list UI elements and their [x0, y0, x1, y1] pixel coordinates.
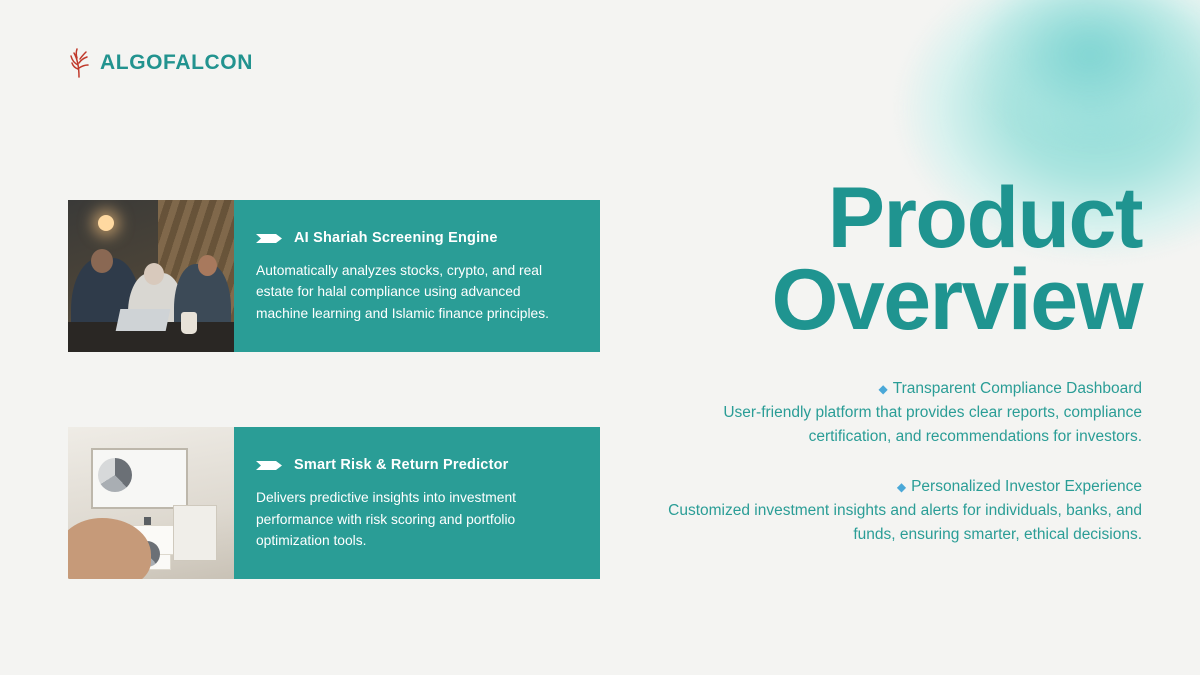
flag-bullet-icon: [256, 232, 282, 245]
feature-card: AI Shariah Screening Engine Automaticall…: [68, 200, 600, 352]
brand-name: ALGOFALCON: [100, 51, 253, 75]
flag-bullet-icon: [256, 459, 282, 472]
diamond-bullet-icon: ◆: [897, 480, 906, 494]
bullet-item: ◆Personalized Investor Experience Custom…: [648, 475, 1142, 547]
feature-card-list: AI Shariah Screening Engine Automaticall…: [68, 200, 600, 579]
decorative-gradient-blob-inner: [940, 0, 1200, 170]
bullet-title-row: ◆Transparent Compliance Dashboard: [648, 377, 1142, 401]
page-title: Product Overview: [648, 178, 1142, 341]
feature-card-description: Delivers predictive insights into invest…: [256, 487, 574, 551]
brand-logo: ALGOFALCON: [68, 48, 253, 78]
feature-card-title: Smart Risk & Return Predictor: [294, 457, 509, 473]
bullet-title-row: ◆Personalized Investor Experience: [648, 475, 1142, 499]
bullet-list: ◆Transparent Compliance Dashboard User-f…: [648, 377, 1142, 547]
feature-card-title: AI Shariah Screening Engine: [294, 230, 498, 246]
feature-card: Smart Risk & Return Predictor Delivers p…: [68, 427, 600, 579]
feature-card-body: Smart Risk & Return Predictor Delivers p…: [234, 427, 600, 579]
business-meeting-photo: [68, 200, 234, 352]
feature-card-description: Automatically analyzes stocks, crypto, a…: [256, 260, 574, 324]
bullet-title: Personalized Investor Experience: [911, 478, 1142, 495]
financial-charts-desk-photo: [68, 427, 234, 579]
diamond-bullet-icon: ◆: [878, 382, 887, 396]
bullet-text: User-friendly platform that provides cle…: [648, 401, 1142, 449]
feature-card-body: AI Shariah Screening Engine Automaticall…: [234, 200, 600, 352]
page-title-line2: Overview: [648, 260, 1142, 342]
falcon-logo-icon: [68, 48, 90, 78]
bullet-item: ◆Transparent Compliance Dashboard User-f…: [648, 377, 1142, 449]
right-column: Product Overview ◆Transparent Compliance…: [648, 178, 1142, 547]
bullet-text: Customized investment insights and alert…: [648, 499, 1142, 547]
bullet-title: Transparent Compliance Dashboard: [893, 380, 1142, 397]
